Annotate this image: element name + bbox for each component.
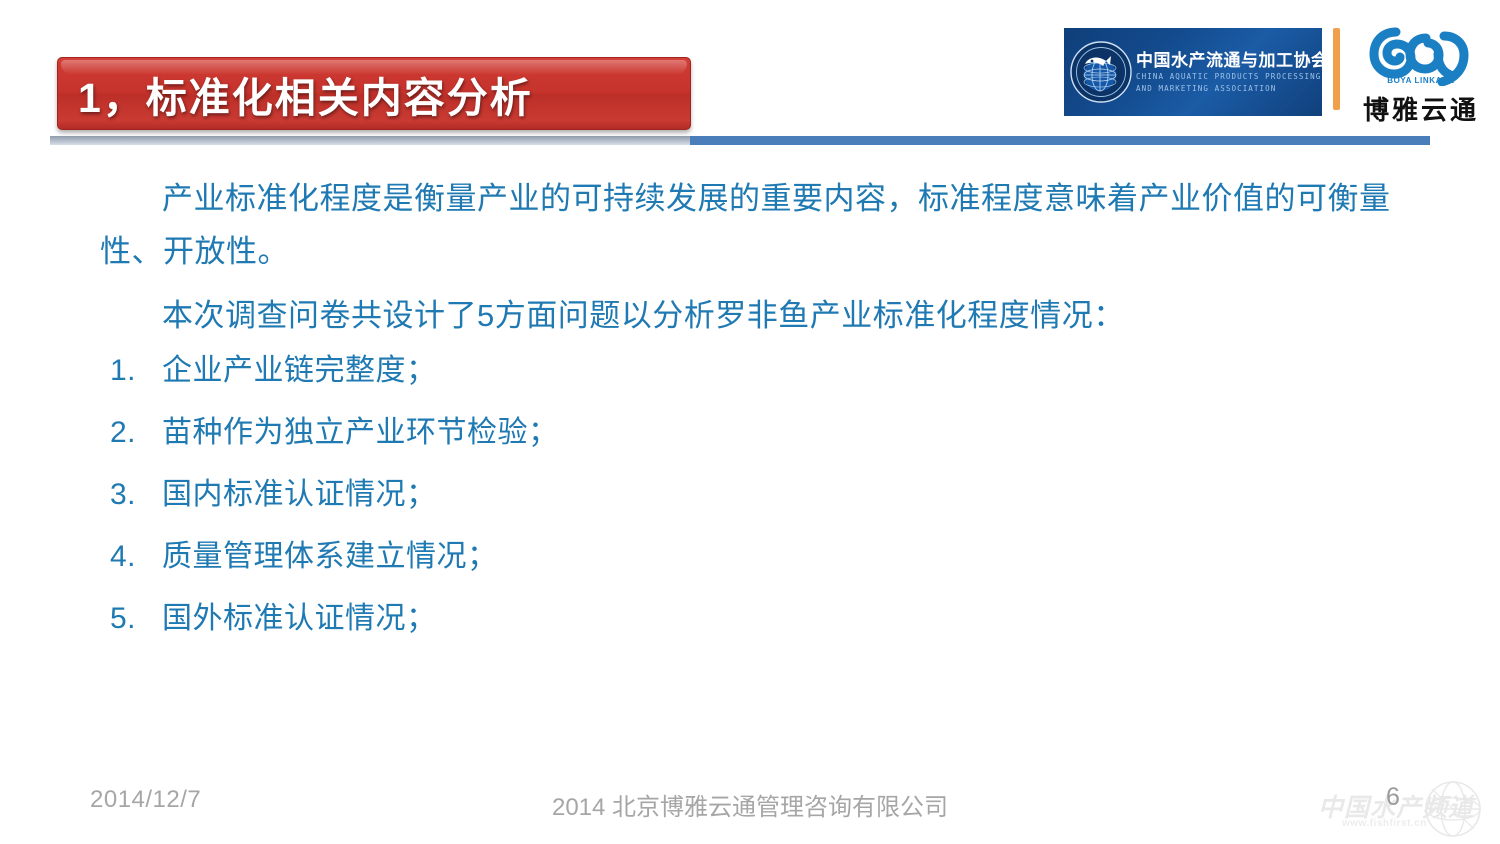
presentation-slide: 1，标准化相关内容分析 中国水产流通与加工协会 CHINA AQU [0,0,1500,844]
association-name-en-line2: AND MARKETING ASSOCIATION [1136,85,1322,93]
list-item: 1. 企业产业链完整度； [100,356,1410,386]
association-text-block: 中国水产流通与加工协会 CHINA AQUATIC PRODUCTS PROCE… [1136,52,1322,92]
list-item-label: 质量管理体系建立情况； [162,542,1410,572]
list-item-label: 国外标准认证情况； [162,604,1410,634]
association-logo: 中国水产流通与加工协会 CHINA AQUATIC PRODUCTS PROCE… [1064,28,1322,116]
list-item-label: 企业产业链完整度； [162,356,1410,386]
globe-fish-emblem-icon [1070,41,1132,103]
list-item-number: 1. [100,356,162,386]
list-item-label: 国内标准认证情况； [162,480,1410,510]
survey-topic-list: 1. 企业产业链完整度； 2. 苗种作为独立产业环节检验； 3. 国内标准认证情… [100,356,1410,634]
list-item: 2. 苗种作为独立产业环节检验； [100,418,1410,448]
page-number: 6 [1386,783,1400,812]
list-item-label: 苗种作为独立产业环节检验； [162,418,1410,448]
boya-logo: BOYA LINKAGE 博雅云通 [1356,24,1486,128]
list-item-number: 4. [100,542,162,572]
logo-divider-bar [1333,28,1340,110]
page-title: 1，标准化相关内容分析 [78,64,533,124]
slide-title-banner: 1，标准化相关内容分析 [57,57,691,130]
header-divider-rule [690,136,1430,145]
list-item-number: 5. [100,604,162,634]
slide-body: 产业标准化程度是衡量产业的可持续发展的重要内容，标准程度意味着产业价值的可衡量性… [100,172,1410,666]
boya-mark-label: BOYA LINKAGE [1356,76,1486,85]
boya-name-cn: 博雅云通 [1356,90,1486,127]
association-name-en-line1: CHINA AQUATIC PRODUCTS PROCESSING [1136,73,1322,81]
watermark-url: www.fishfirst.cn [1342,818,1427,829]
list-item-number: 2. [100,418,162,448]
logo-group: 中国水产流通与加工协会 CHINA AQUATIC PRODUCTS PROCE… [1064,22,1488,130]
list-item-number: 3. [100,480,162,510]
association-name-cn: 中国水产流通与加工协会 [1136,52,1322,69]
footer-company: 2014 北京博雅云通管理咨询有限公司 [0,787,1500,822]
list-item: 3. 国内标准认证情况； [100,480,1410,510]
globe-icon [1422,780,1484,838]
body-paragraph-2: 本次调查问卷共设计了5方面问题以分析罗非鱼产业标准化程度情况： [100,289,1410,342]
list-item: 5. 国外标准认证情况； [100,604,1410,634]
body-paragraph-1: 产业标准化程度是衡量产业的可持续发展的重要内容，标准程度意味着产业价值的可衡量性… [100,172,1410,279]
banner-bottom-shadow [50,136,695,145]
watermark: 中国水产频道 www.fishfirst.cn [1310,778,1500,840]
list-item: 4. 质量管理体系建立情况； [100,542,1410,572]
